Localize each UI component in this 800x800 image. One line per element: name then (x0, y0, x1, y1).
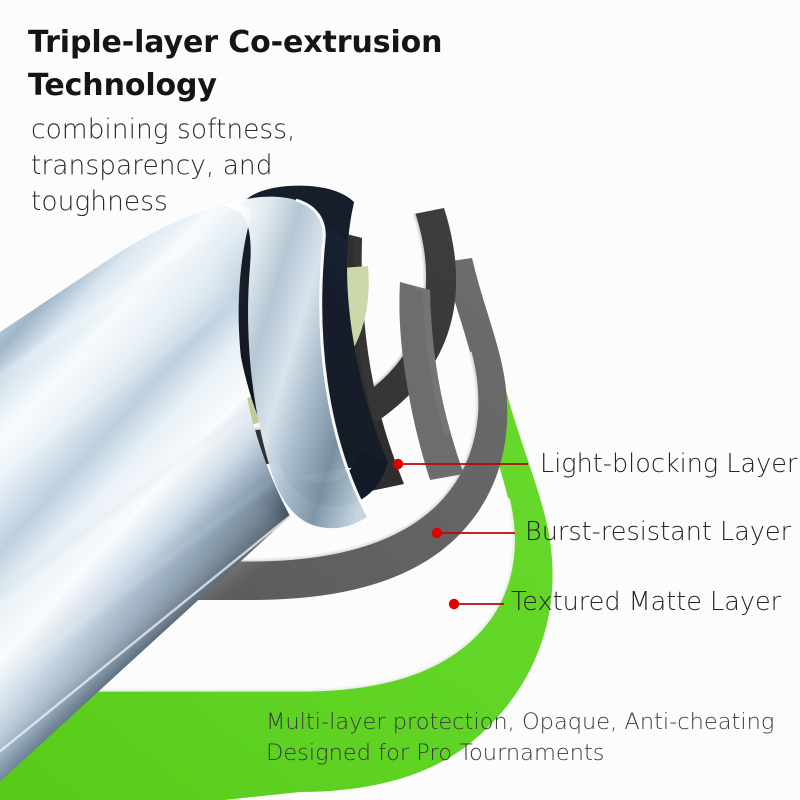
callout-label-burst-resistant-layer: Burst-resistant Layer (525, 520, 791, 546)
callout-label-textured-matte-layer: Textured Matte Layer (511, 590, 781, 616)
page-subtitle: combining softness, transparency, and to… (31, 112, 361, 219)
page-title: Triple-layer Co-extrusion Technology (28, 22, 498, 107)
product-infographic-poster: Triple-layer Co-extrusion Technology com… (0, 0, 800, 800)
footnote-text: Multi-layer protection, Opaque, Anti-che… (266, 707, 800, 768)
callout-label-light-blocking-layer: Light-blocking Layer (540, 452, 797, 478)
